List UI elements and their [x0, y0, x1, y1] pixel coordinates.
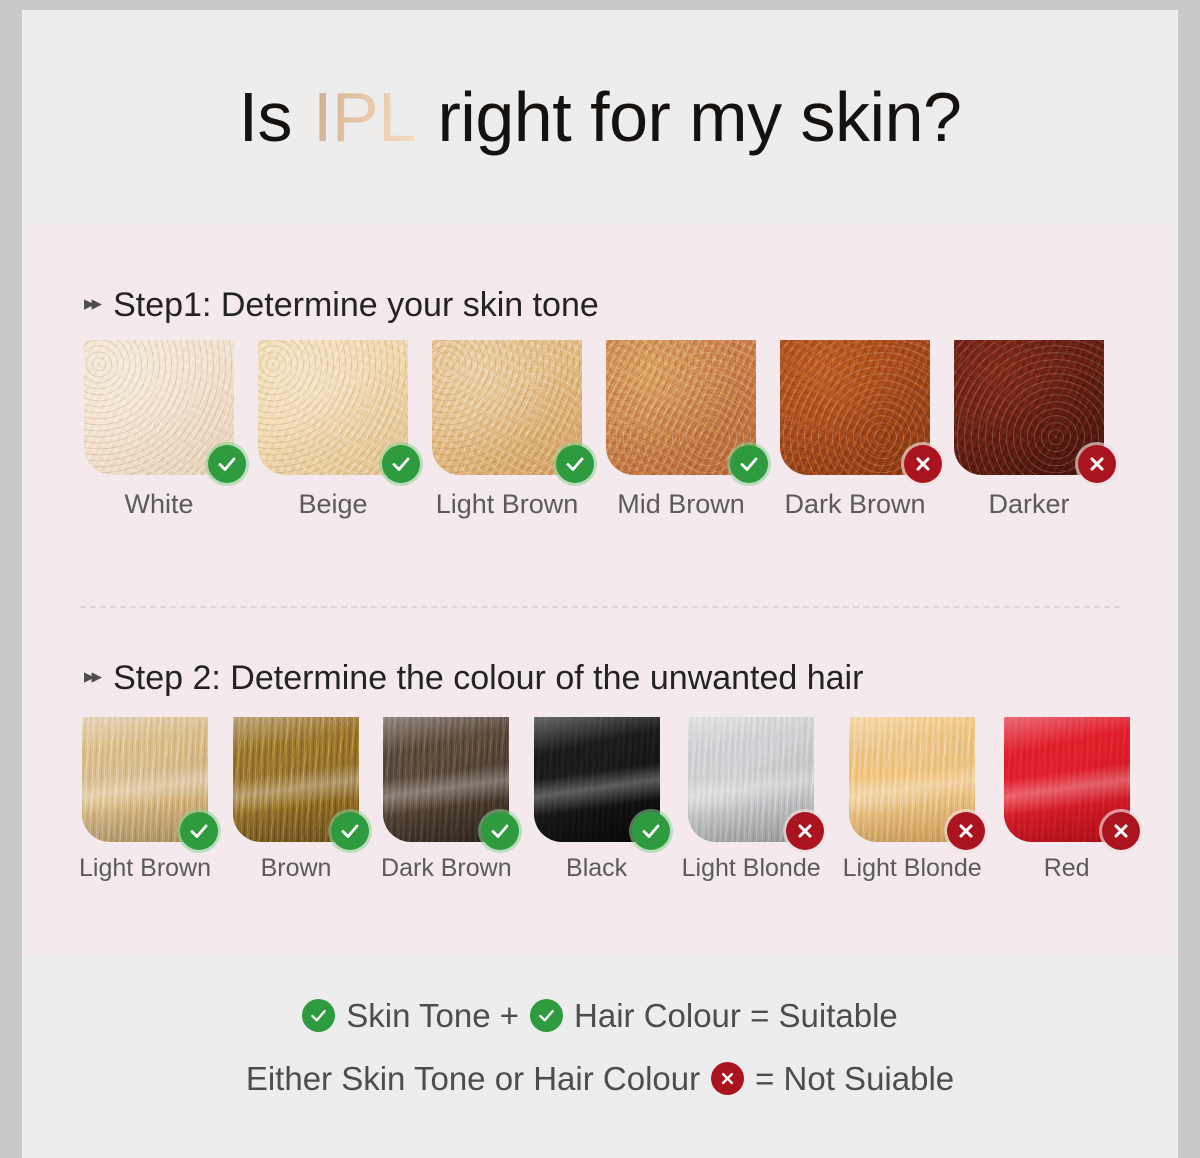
hair-colour-label: Black — [566, 854, 627, 883]
title-text-after: right for my skin? — [419, 78, 962, 156]
skin-tone-label: Mid Brown — [617, 489, 745, 520]
skin-tone-cell[interactable]: Beige — [258, 340, 408, 520]
step-1-label: Step1: Determine your skin tone — [113, 286, 599, 325]
hair-colour-swatch-wrap — [233, 717, 359, 842]
skin-tone-label: Dark Brown — [784, 489, 925, 520]
background-band-bottom — [22, 955, 1178, 1158]
check-icon — [632, 812, 670, 850]
cross-icon — [947, 812, 985, 850]
skin-tone-swatch-wrap — [432, 340, 582, 475]
legend-text-skin-tone: Skin Tone + — [346, 999, 519, 1032]
check-icon — [556, 445, 594, 483]
title-text-before: Is — [239, 78, 311, 156]
skin-tone-label: White — [124, 489, 193, 520]
cross-icon — [1078, 445, 1116, 483]
check-icon — [382, 445, 420, 483]
cross-icon — [1102, 812, 1140, 850]
legend-text-hair-colour-suitable: Hair Colour = Suitable — [574, 999, 898, 1032]
skin-tone-label: Light Brown — [436, 489, 579, 520]
skin-tone-swatch-wrap — [780, 340, 930, 475]
cross-icon — [786, 812, 824, 850]
cross-icon — [904, 445, 942, 483]
hair-colour-cell[interactable]: Black — [534, 717, 660, 883]
skin-tone-swatch-row: WhiteBeigeLight BrownMid BrownDark Brown… — [84, 340, 1104, 520]
skin-tone-swatch-wrap — [258, 340, 408, 475]
hair-colour-swatch-wrap — [82, 717, 208, 842]
hair-colour-label: Brown — [261, 854, 332, 883]
check-icon — [530, 999, 563, 1032]
section-divider — [80, 606, 1120, 608]
legend-text-not-suitable: = Not Suiable — [755, 1062, 954, 1095]
hair-colour-cell[interactable]: Brown — [233, 717, 359, 883]
legend-text-either: Either Skin Tone or Hair Colour — [246, 1062, 700, 1095]
hair-colour-swatch-row: Light BrownBrownDark BrownBlackLight Blo… — [79, 717, 1130, 883]
step-1-heading: ▸▸ Step1: Determine your skin tone — [84, 286, 599, 325]
check-icon — [481, 812, 519, 850]
hair-colour-cell[interactable]: Dark Brown — [381, 717, 512, 883]
hair-colour-cell[interactable]: Light Blonde — [682, 717, 821, 883]
skin-tone-swatch-wrap — [84, 340, 234, 475]
legend-line-suitable: Skin Tone + Hair Colour = Suitable — [22, 996, 1178, 1034]
page-title: Is IPL right for my skin? — [22, 82, 1178, 152]
hair-colour-swatch-wrap — [849, 717, 975, 842]
skin-tone-cell[interactable]: Darker — [954, 340, 1104, 520]
hair-colour-label: Light Blonde — [682, 854, 821, 883]
check-icon — [730, 445, 768, 483]
skin-tone-swatch-wrap — [606, 340, 756, 475]
hair-colour-swatch-wrap — [534, 717, 660, 842]
hair-colour-label: Light Brown — [79, 854, 211, 883]
legend-line-not-suitable: Either Skin Tone or Hair Colour = Not Su… — [22, 1060, 1178, 1098]
hair-colour-swatch-wrap — [1004, 717, 1130, 842]
hair-colour-swatch-wrap — [383, 717, 509, 842]
skin-tone-cell[interactable]: Mid Brown — [606, 340, 756, 520]
check-icon — [208, 445, 246, 483]
poster-frame: Is IPL right for my skin? ▸▸ Step1: Dete… — [0, 0, 1200, 1158]
check-icon — [180, 812, 218, 850]
hair-colour-label: Light Blonde — [843, 854, 982, 883]
infographic-canvas: Is IPL right for my skin? ▸▸ Step1: Dete… — [22, 10, 1178, 1158]
check-icon — [302, 999, 335, 1032]
cross-icon — [711, 1062, 744, 1095]
skin-tone-cell[interactable]: Light Brown — [432, 340, 582, 520]
step-2-heading: ▸▸ Step 2: Determine the colour of the u… — [84, 659, 863, 698]
double-arrow-icon: ▸▸ — [84, 293, 99, 314]
check-icon — [331, 812, 369, 850]
skin-tone-label: Darker — [988, 489, 1069, 520]
hair-colour-cell[interactable]: Red — [1004, 717, 1130, 883]
hair-colour-cell[interactable]: Light Brown — [79, 717, 211, 883]
skin-tone-cell[interactable]: White — [84, 340, 234, 520]
skin-tone-cell[interactable]: Dark Brown — [780, 340, 930, 520]
double-arrow-icon: ▸▸ — [84, 666, 99, 687]
hair-colour-swatch-wrap — [688, 717, 814, 842]
step-2-label: Step 2: Determine the colour of the unwa… — [113, 659, 863, 698]
title-accent-ipl: IPL — [311, 78, 419, 156]
hair-colour-label: Red — [1044, 854, 1090, 883]
hair-colour-label: Dark Brown — [381, 854, 512, 883]
skin-tone-swatch-wrap — [954, 340, 1104, 475]
skin-tone-label: Beige — [298, 489, 367, 520]
hair-colour-cell[interactable]: Light Blonde — [843, 717, 982, 883]
